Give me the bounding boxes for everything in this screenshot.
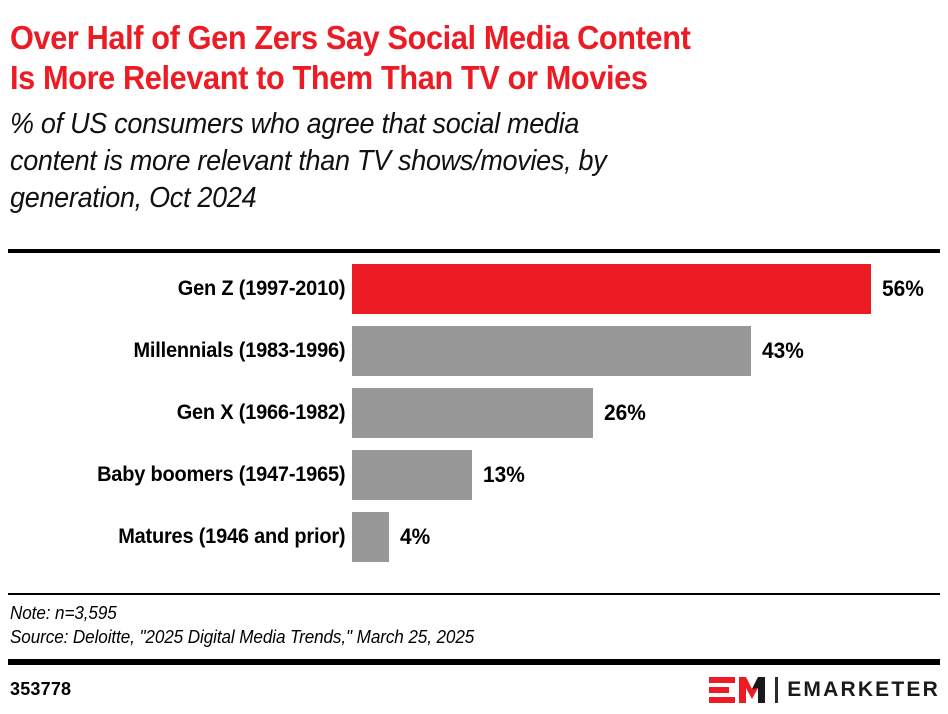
note-text: Note: n=3,595	[10, 601, 884, 625]
bar-category-label: Gen Z (1997-2010)	[18, 277, 352, 301]
bar-row: Baby boomers (1947-1965)13%	[0, 444, 948, 506]
infographic-page: Over Half of Gen Zers Say Social Media C…	[0, 0, 948, 714]
bar-row: Millennials (1983-1996)43%	[0, 320, 948, 382]
bar-value-label: 26%	[604, 401, 646, 425]
bar-track: 4%	[352, 506, 948, 568]
header-divider	[8, 249, 940, 253]
bar-category-label: Matures (1946 and prior)	[18, 525, 352, 549]
bar-category-label: Gen X (1966-1982)	[18, 401, 352, 425]
bar-chart: Gen Z (1997-2010)56%Millennials (1983-19…	[0, 258, 948, 588]
footer-divider	[8, 659, 940, 665]
bar-track: 56%	[352, 258, 948, 320]
bar[interactable]	[352, 264, 871, 314]
bar-value-label: 43%	[762, 339, 804, 363]
bar-track: 26%	[352, 382, 948, 444]
bar-row: Matures (1946 and prior)4%	[0, 506, 948, 568]
note-divider	[8, 593, 940, 595]
logo-divider	[775, 677, 778, 703]
bar-row: Gen Z (1997-2010)56%	[0, 258, 948, 320]
em-monogram-icon	[709, 676, 767, 704]
bar-track: 43%	[352, 320, 948, 382]
bar-category-label: Baby boomers (1947-1965)	[18, 463, 352, 487]
header: Over Half of Gen Zers Say Social Media C…	[10, 18, 930, 217]
bar[interactable]	[352, 388, 593, 438]
chart-id: 353778	[10, 678, 71, 700]
bar[interactable]	[352, 450, 472, 500]
bar-track: 13%	[352, 444, 948, 506]
bar-value-label: 13%	[483, 463, 525, 487]
page-subtitle: % of US consumers who agree that social …	[10, 106, 866, 217]
bar[interactable]	[352, 512, 389, 562]
source-text: Source: Deloitte, "2025 Digital Media Tr…	[10, 625, 884, 649]
logo-wordmark: EMARKETER	[787, 679, 940, 701]
notes-block: Note: n=3,595 Source: Deloitte, "2025 Di…	[10, 601, 930, 649]
bar[interactable]	[352, 326, 751, 376]
bar-value-label: 56%	[882, 277, 924, 301]
bar-category-label: Millennials (1983-1996)	[18, 339, 352, 363]
bar-value-label: 4%	[400, 525, 430, 549]
emarketer-logo[interactable]: EMARKETER	[709, 676, 940, 704]
page-title: Over Half of Gen Zers Say Social Media C…	[10, 18, 866, 98]
bar-row: Gen X (1966-1982)26%	[0, 382, 948, 444]
